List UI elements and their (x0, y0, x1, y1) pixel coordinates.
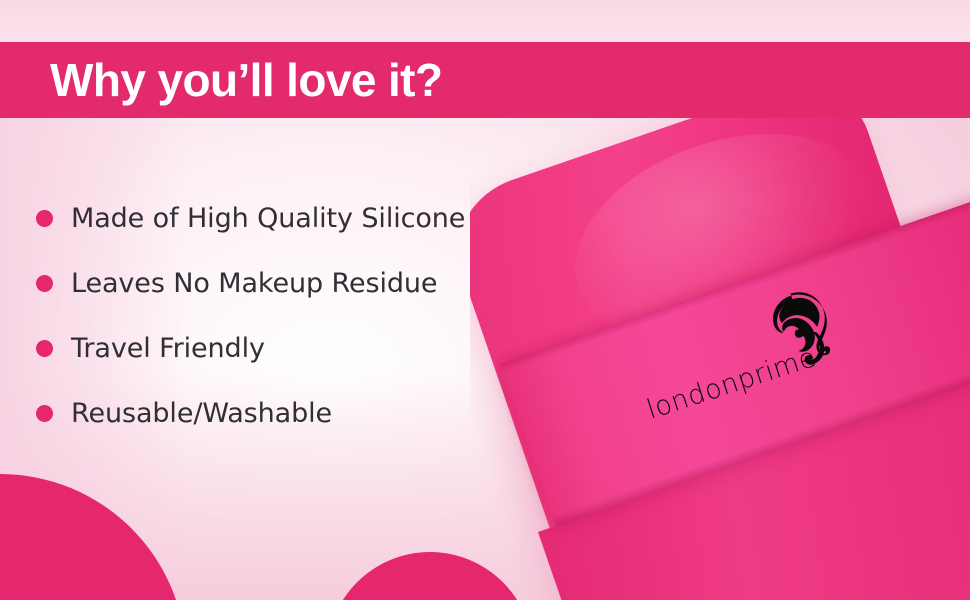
bullet-icon (36, 275, 53, 292)
silicone-pad-strap (500, 182, 970, 527)
bullet-icon (36, 405, 53, 422)
page-title: Why you’ll love it? (50, 57, 442, 103)
woman-profile-with-flowing-hair-icon (754, 281, 848, 381)
feature-label: Made of High Quality Silicone (71, 204, 465, 234)
feature-list: Made of High Quality Silicone Leaves No … (36, 186, 506, 446)
background-tint-top (0, 0, 970, 42)
bullet-icon (36, 210, 53, 227)
bullet-icon (36, 340, 53, 357)
decorative-circle-small (327, 552, 533, 600)
list-item: Leaves No Makeup Residue (36, 251, 506, 316)
product-image (470, 112, 970, 600)
silicone-pad-body (470, 112, 970, 600)
promo-banner: londonprime Why you’ll love it? Made of … (0, 0, 970, 600)
list-item: Travel Friendly (36, 316, 506, 381)
brand-logo: londonprime (623, 286, 862, 445)
list-item: Reusable/Washable (36, 381, 506, 446)
feature-label: Travel Friendly (71, 334, 265, 364)
decorative-circle-large (0, 474, 186, 600)
strap-edge-top (500, 182, 970, 373)
silicone-pad-lower-section (538, 379, 970, 600)
silicone-pad-highlight (548, 112, 903, 377)
header-band: Why you’ll love it? (0, 42, 970, 118)
strap-edge-bottom (552, 334, 970, 527)
feature-label: Leaves No Makeup Residue (71, 269, 437, 299)
brand-wordmark: londonprime (643, 342, 820, 426)
list-item: Made of High Quality Silicone (36, 186, 506, 251)
feature-label: Reusable/Washable (71, 399, 332, 429)
